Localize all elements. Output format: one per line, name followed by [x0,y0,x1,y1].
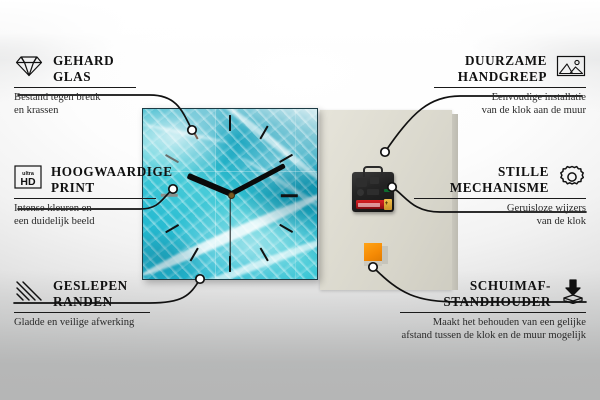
feature-divider [14,87,136,88]
diamond-icon [14,54,44,83]
svg-text:HD: HD [20,176,36,188]
feature-description: Geruisloze wijzers van de klok [406,203,586,228]
connector-dot-schuimaf-standhouder [369,263,377,271]
product-infographic: + [0,0,600,400]
feature-title: SCHUIMAF- STANDHOUDER [443,278,551,309]
diagonal-lines-icon [14,279,44,308]
picture-frame-icon [556,54,586,83]
connector-dot-duurzame-handgreep [381,148,389,156]
feature-title: DUURZAME HANDGREEP [458,53,547,84]
gear-icon [558,164,586,195]
arrow-down-pad-icon [560,278,586,309]
feature-schuimaf-standhouder: SCHUIMAF- STANDHOUDER Maakt het behouden… [386,278,586,342]
feature-divider [14,312,150,313]
feature-gehard-glas: GEHARD GLAS Bestand tegen breuk en krass… [14,53,174,117]
feature-description: Maakt het behouden van een gelijke afsta… [386,317,586,342]
connector-dot-gehard-glas [188,126,196,134]
feature-title: STILLE MECHANISME [450,164,549,195]
ultra-hd-icon: ultra HD [14,164,42,195]
feature-divider [14,198,156,199]
feature-description: Bestand tegen breuk en krassen [14,92,174,117]
feature-description: Gladde en veilige afwerking [14,317,204,330]
feature-stille-mechanisme: STILLE MECHANISME Geruisloze wijzers van… [406,164,586,228]
feature-duurzame-handgreep: DUURZAME HANDGREEP Eenvoudige installati… [406,53,586,117]
feature-description: Intense kleuren en een duidelijk beeld [14,203,194,228]
feature-divider [434,87,586,88]
feature-title: GESLEPEN RANDEN [53,278,128,309]
feature-geslepen-randen: GESLEPEN RANDEN Gladde en veilige afwerk… [14,278,204,330]
feature-divider [400,312,586,313]
feature-title: GEHARD GLAS [53,53,114,84]
feature-title: HOOGWAARDIGE PRINT [51,164,173,195]
connector-dot-stille-mechanisme [388,183,396,191]
feature-divider [414,198,586,199]
feature-description: Eenvoudige installatie van de klok aan d… [406,92,586,117]
feature-hoogwaardige-print: ultra HD HOOGWAARDIGE PRINT Intense kleu… [14,164,194,228]
